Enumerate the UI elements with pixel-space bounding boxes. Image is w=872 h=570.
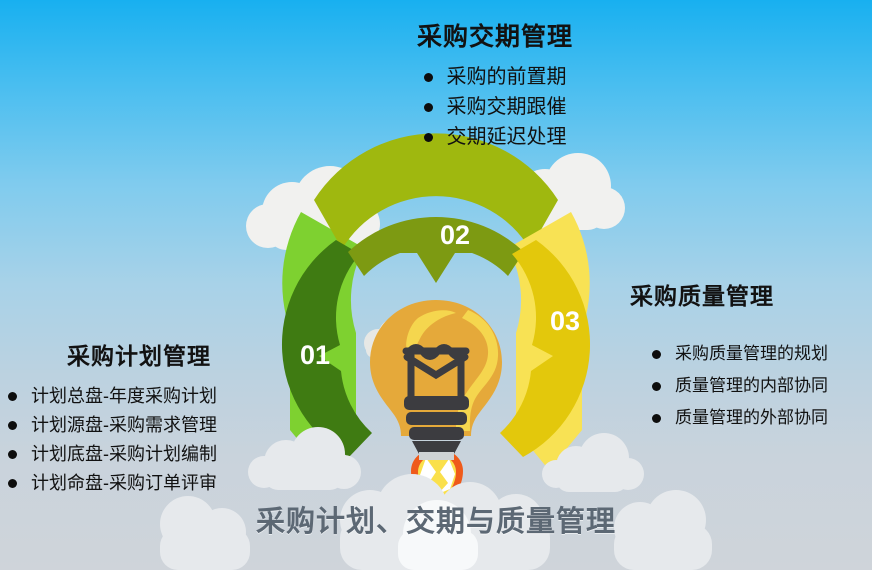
list-item-label: 计划底盘-采购计划编制 — [31, 440, 217, 469]
bullet-icon — [652, 350, 661, 359]
bullet-icon — [652, 414, 661, 423]
list-item: 计划命盘-采购订单评审 — [8, 469, 270, 498]
section-title-delivery: 采购交期管理 — [330, 20, 660, 54]
list-item-label: 质量管理的内部协同 — [675, 370, 828, 402]
bullet-icon — [424, 73, 433, 82]
list-item: 计划源盘-采购需求管理 — [8, 411, 270, 440]
list-item-label: 采购交期跟催 — [447, 92, 567, 122]
list-item-label: 计划命盘-采购订单评审 — [31, 469, 217, 498]
bullet-list-quality: 采购质量管理的规划 质量管理的内部协同 质量管理的外部协同 — [652, 338, 870, 434]
list-item-label: 计划总盘-年度采购计划 — [31, 382, 217, 411]
list-item: 采购质量管理的规划 — [652, 338, 870, 370]
infographic-canvas: 01 02 03 — [0, 0, 872, 570]
bullet-icon — [8, 421, 17, 430]
list-item-label: 计划源盘-采购需求管理 — [31, 411, 217, 440]
list-item: 采购交期跟催 — [424, 92, 567, 122]
bullet-icon — [424, 103, 433, 112]
page-caption: 采购计划、交期与质量管理 — [0, 498, 872, 540]
list-item: 采购的前置期 — [424, 62, 567, 92]
text-layer: 采购交期管理 采购的前置期 采购交期跟催 交期延迟处理 采购计划管理 计划总盘-… — [0, 0, 872, 570]
bullet-icon — [8, 479, 17, 488]
section-plan-management: 采购计划管理 计划总盘-年度采购计划 计划源盘-采购需求管理 计划底盘-采购计划… — [8, 340, 270, 498]
bullet-list-plan: 计划总盘-年度采购计划 计划源盘-采购需求管理 计划底盘-采购计划编制 计划命盘… — [8, 382, 270, 498]
bullet-list-delivery: 采购的前置期 采购交期跟催 交期延迟处理 — [424, 62, 567, 152]
bullet-icon — [8, 392, 17, 401]
section-delivery-management: 采购交期管理 采购的前置期 采购交期跟催 交期延迟处理 — [330, 20, 660, 152]
section-quality-management: 采购质量管理 采购质量管理的规划 质量管理的内部协同 质量管理的外部协同 — [630, 280, 870, 434]
list-item-label: 采购质量管理的规划 — [675, 338, 828, 370]
list-item: 质量管理的外部协同 — [652, 402, 870, 434]
list-item-label: 采购的前置期 — [447, 62, 567, 92]
bullet-icon — [424, 133, 433, 142]
list-item: 交期延迟处理 — [424, 122, 567, 152]
bullet-icon — [8, 450, 17, 459]
section-title-plan: 采购计划管理 — [8, 340, 270, 372]
list-item: 质量管理的内部协同 — [652, 370, 870, 402]
list-item: 计划底盘-采购计划编制 — [8, 440, 270, 469]
bullet-icon — [652, 382, 661, 391]
list-item-label: 质量管理的外部协同 — [675, 402, 828, 434]
section-title-quality: 采购质量管理 — [630, 280, 870, 312]
list-item: 计划总盘-年度采购计划 — [8, 382, 270, 411]
list-item-label: 交期延迟处理 — [447, 122, 567, 152]
